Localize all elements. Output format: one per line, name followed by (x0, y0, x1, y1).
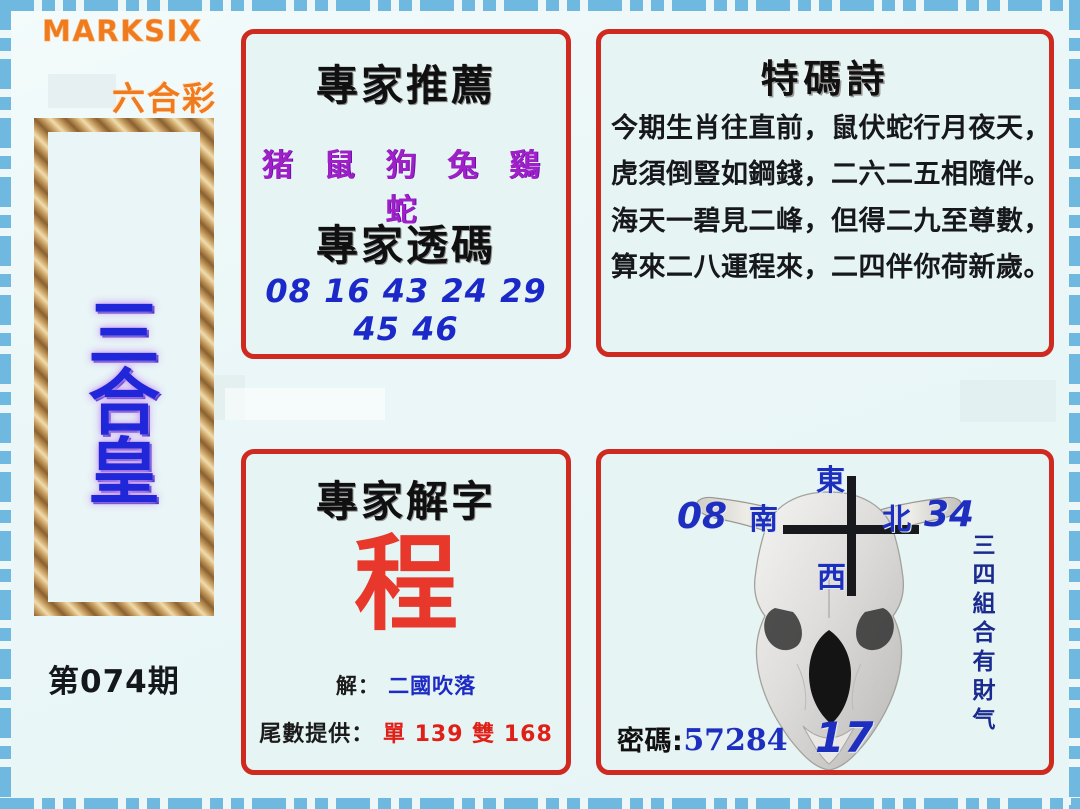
lucky-phrase-vertical: 三 四 組 合 有 財 气 (967, 532, 1001, 735)
direction-east: 東 (816, 457, 845, 499)
scroll-banner-title: 三 合 皇 (74, 300, 174, 507)
poem-line: 算來二八運程來，二四伴你荷新歲。 (611, 245, 1041, 291)
lucky-phrase-char: 組 (967, 590, 1001, 619)
direction-west: 西 (817, 554, 846, 596)
expert-picks-card: 專家推薦 猪 鼠 狗 兔 鷄 蛇 專家透碼 08 16 43 24 29 45 … (241, 29, 571, 359)
lucky-phrase-char: 三 (967, 532, 1001, 561)
tail-numbers-row: 尾數提供： 單 139 雙 168 (246, 716, 566, 748)
character-reading-heading: 專家解字 (246, 468, 566, 529)
frame-dash-right (1069, 0, 1080, 809)
secret-code-row: 密碼:57284 (617, 719, 788, 758)
skull-compass-card: 東 南 北 西 08 34 17 三 四 組 合 有 財 气 密碼:57284 (596, 449, 1054, 775)
lucky-phrase-char: 有 (967, 648, 1001, 677)
scroll-title-char-1: 三 (74, 300, 174, 369)
character-explanation-label: 解： (336, 674, 380, 698)
direction-north: 北 (882, 496, 911, 538)
secret-code-label: 密碼: (617, 726, 683, 757)
skull-number-left: 08 (677, 496, 727, 537)
lucky-phrase-char: 四 (967, 561, 1001, 590)
poster-root: MARKSIX 六合彩 三 合 皇 第074期 專家推薦 猪 鼠 狗 兔 鷄 蛇… (0, 0, 1080, 809)
scroll-title-char-3: 皇 (74, 438, 174, 507)
character-reading-card: 專家解字 程 解： 二國吹落 尾數提供： 單 139 雙 168 (241, 449, 571, 775)
issue-number: 第074期 (48, 656, 180, 701)
lucky-phrase-char: 气 (967, 706, 1001, 735)
poem-card: 特碼詩 今期生肖往直前，鼠伏蛇行月夜天， 虎須倒豎如鋼錢，二六二五相隨伴。 海天… (596, 29, 1054, 357)
featured-character: 程 (246, 532, 566, 636)
frame-dash-bottom (0, 798, 1080, 809)
compass-vertical-bar (847, 476, 856, 596)
skull-stage: 東 南 北 西 08 34 17 三 四 組 合 有 財 气 密碼:57284 (601, 454, 1049, 770)
expert-picks-numbers: 08 16 43 24 29 45 46 (246, 272, 566, 348)
poem-body: 今期生肖往直前，鼠伏蛇行月夜天， 虎須倒豎如鋼錢，二六二五相隨伴。 海天一碧見二… (611, 106, 1041, 292)
brand-title-cn: 六合彩 (112, 72, 217, 120)
poem-line: 海天一碧見二峰，但得二九至尊數， (611, 199, 1041, 245)
frame-dash-left (0, 0, 11, 809)
frame-dash-top (0, 0, 1080, 11)
tail-numbers-value: 單 139 雙 168 (383, 722, 553, 747)
expert-code-subheading: 專家透碼 (246, 212, 566, 273)
scroll-title-char-2: 合 (74, 369, 174, 438)
scan-patch (225, 388, 385, 420)
expert-picks-heading: 專家推薦 (246, 52, 566, 113)
poem-title: 特碼詩 (601, 48, 1049, 103)
secret-code-value: 57284 (683, 723, 787, 758)
poem-line: 今期生肖往直前，鼠伏蛇行月夜天， (611, 106, 1041, 152)
poem-line: 虎須倒豎如鋼錢，二六二五相隨伴。 (611, 152, 1041, 198)
tail-numbers-label: 尾數提供： (259, 722, 374, 747)
lucky-phrase-char: 合 (967, 619, 1001, 648)
brand-title-en: MARKSIX (42, 14, 203, 48)
direction-south: 南 (749, 496, 778, 538)
scan-patch (960, 380, 1056, 422)
lucky-phrase-char: 財 (967, 677, 1001, 706)
skull-number-bottom: 17 (815, 713, 873, 762)
character-explanation-value: 二國吹落 (388, 674, 476, 698)
skull-number-right: 34 (924, 494, 974, 535)
character-explanation: 解： 二國吹落 (246, 670, 566, 700)
brand-blank-block (48, 74, 116, 108)
